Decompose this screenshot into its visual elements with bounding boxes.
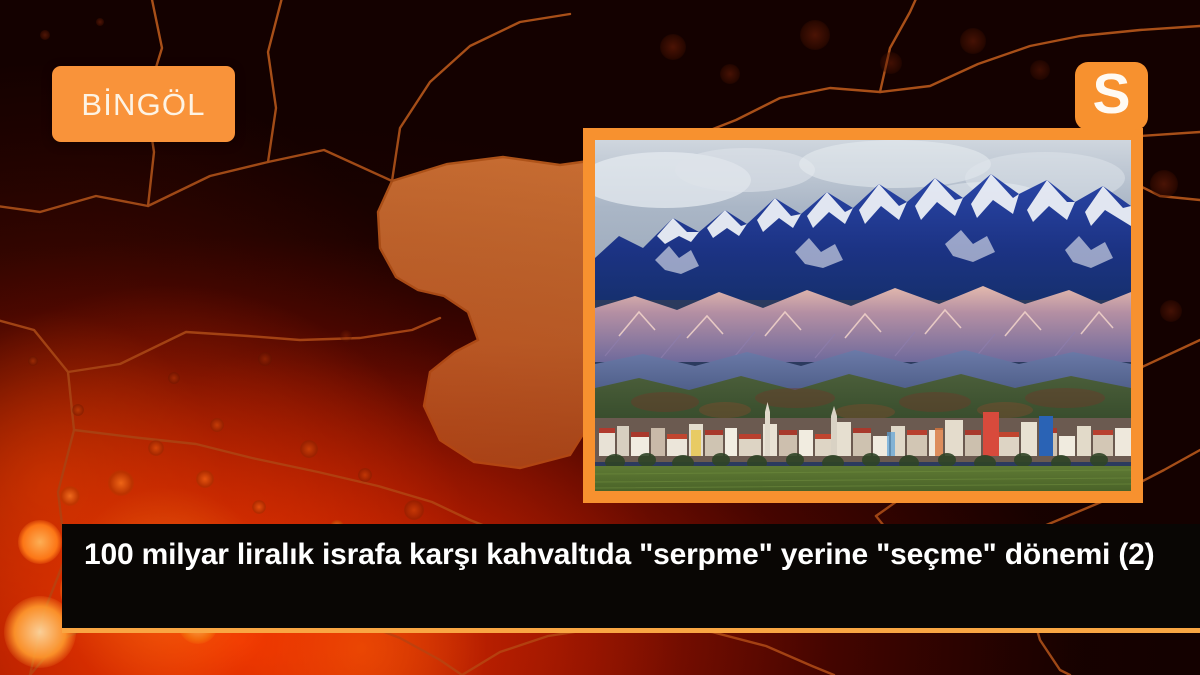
- photo-frame: [583, 128, 1143, 503]
- headline-text: 100 milyar liralık israfa karşı kahvaltı…: [84, 536, 1182, 573]
- news-card: BİNGÖL: [0, 0, 1200, 675]
- headline-bar: 100 milyar liralık israfa karşı kahvaltı…: [62, 524, 1200, 628]
- photo-artwork: [595, 140, 1131, 491]
- photo-image: [595, 140, 1131, 491]
- city-badge-label: BİNGÖL: [81, 89, 205, 120]
- headline-accent-rule: [62, 628, 1200, 633]
- city-badge: BİNGÖL: [52, 66, 235, 142]
- brand-logo-letter: S: [1092, 66, 1130, 123]
- brand-logo: S: [1075, 62, 1148, 130]
